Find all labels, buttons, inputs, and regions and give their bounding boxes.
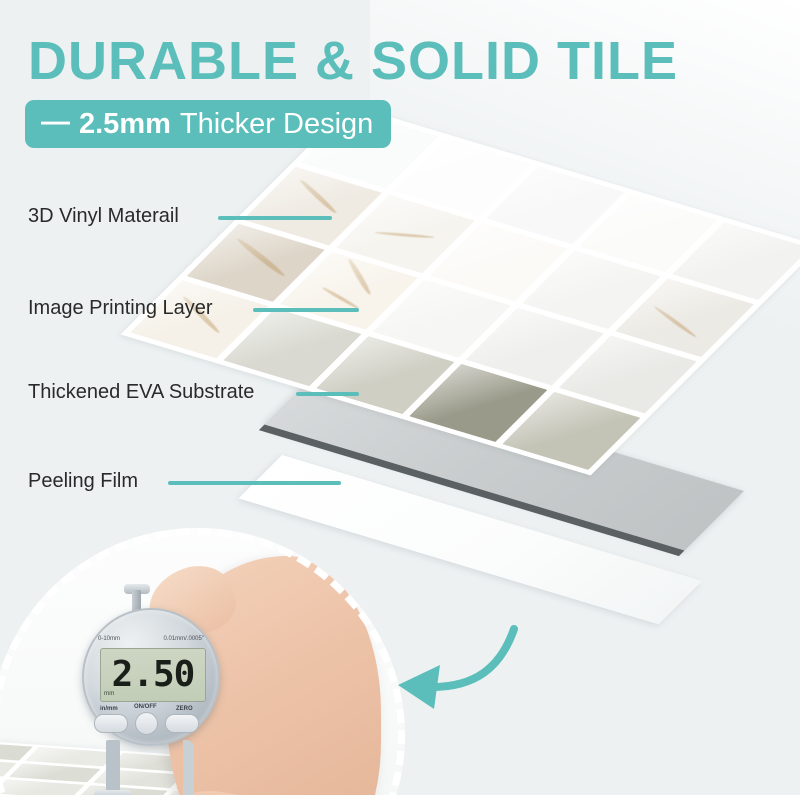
layer-label-eva: Thickened EVA Substrate (28, 381, 254, 404)
gauge-zero-button[interactable] (165, 714, 199, 733)
gauge-unit-button[interactable] (94, 714, 128, 733)
infographic-canvas: DURABLE & SOLID TILE — 2.5mm Thicker Des… (0, 0, 800, 795)
gauge-resolution-mark: 0.01mm/.0005" (164, 636, 205, 642)
measurement-photo-inset: 0-10mm 0.01mm/.0005" 2.50 mm in/mm ON/OF… (0, 528, 405, 795)
gauge-range-mark: 0-10mm (98, 636, 120, 642)
gauge-dial: 0-10mm 0.01mm/.0005" 2.50 mm in/mm ON/OF… (82, 608, 220, 746)
gauge-unit-button-label: in/mm (100, 706, 118, 712)
thickness-gauge: 0-10mm 0.01mm/.0005" 2.50 mm in/mm ON/OF… (82, 590, 232, 795)
tile (0, 780, 84, 795)
tile-stack-illustration (330, 115, 800, 585)
leader-line-film (168, 481, 341, 485)
gauge-c-frame (108, 740, 194, 795)
badge-dash: — (41, 108, 70, 137)
badge-thickness: 2.5mm (79, 110, 171, 139)
page-title: DURABLE & SOLID TILE (28, 33, 678, 89)
mosaic-grid (121, 105, 800, 475)
gauge-reading: 2.50 (112, 657, 195, 693)
layer-mosaic-sheet (121, 105, 800, 475)
leader-line-printing (253, 308, 359, 312)
badge-caption: Thicker Design (180, 110, 373, 139)
leader-line-eva (296, 392, 359, 396)
gauge-zero-button-label: ZERO (176, 706, 193, 712)
gauge-anvil-foot (94, 790, 132, 795)
layer-label-printing: Image Printing Layer (28, 297, 213, 320)
subtitle-badge: — 2.5mm Thicker Design (25, 100, 391, 148)
layer-label-vinyl: 3D Vinyl Materail (28, 205, 179, 228)
gauge-button-row (94, 712, 214, 735)
gauge-power-button-label: ON/OFF (134, 704, 157, 710)
gauge-power-button[interactable] (135, 712, 158, 735)
gauge-lcd: 2.50 mm (100, 648, 206, 702)
pointer-arrow (388, 625, 518, 725)
curved-arrow-icon (388, 625, 518, 725)
gauge-unit: mm (104, 691, 115, 697)
gauge-anvil-post (106, 740, 120, 795)
layer-label-film: Peeling Film (28, 470, 138, 493)
leader-line-vinyl (218, 216, 332, 220)
